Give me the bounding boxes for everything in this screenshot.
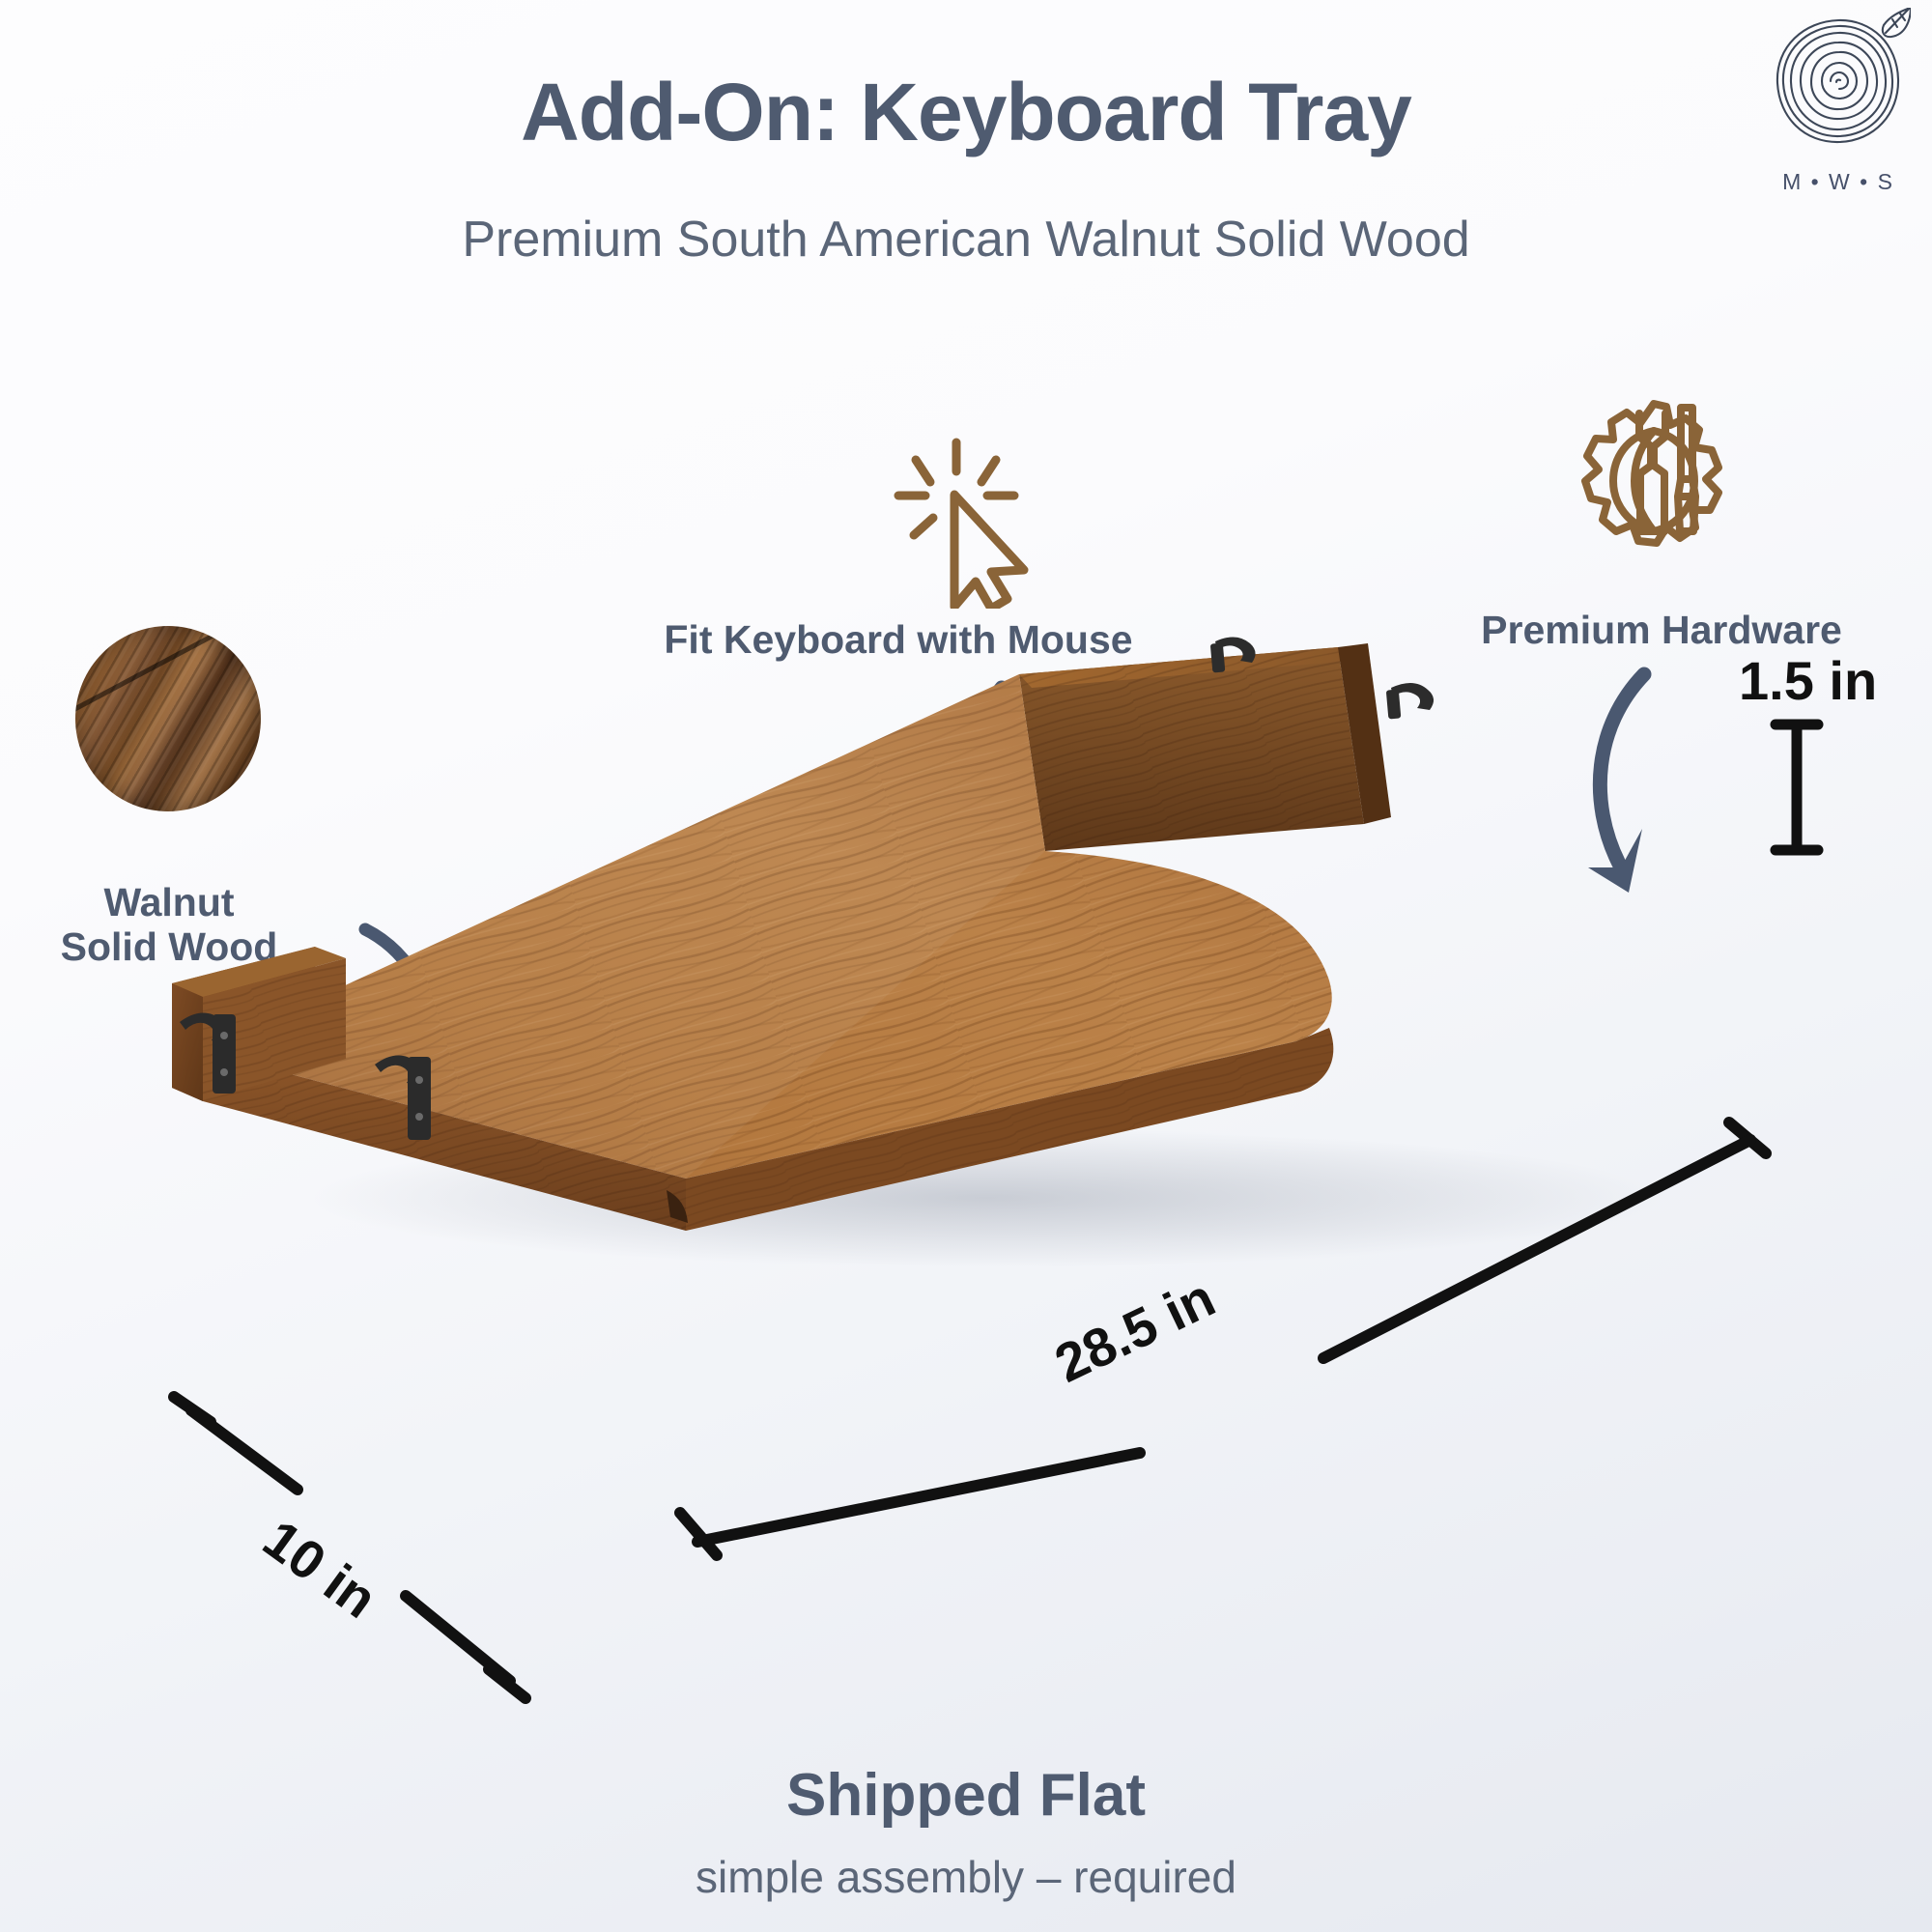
footer-subtitle: simple assembly – required bbox=[0, 1855, 1932, 1899]
infographic-canvas: Add-On: Keyboard Tray Premium South Amer… bbox=[0, 0, 1932, 1932]
gear-tools-icon bbox=[1557, 386, 1750, 580]
page-subtitle: Premium South American Walnut Solid Wood bbox=[0, 214, 1932, 265]
dimension-height-line bbox=[1758, 715, 1835, 860]
tree-ring-logo bbox=[1766, 8, 1911, 172]
logo-wordmark: M • W • S bbox=[1766, 169, 1911, 195]
footer-title: Shipped Flat bbox=[0, 1766, 1932, 1826]
bracket-hook-far-right bbox=[1386, 683, 1434, 720]
tray-back-rail bbox=[1019, 643, 1391, 851]
page-title: Add-On: Keyboard Tray bbox=[0, 71, 1932, 153]
dimension-length-line bbox=[667, 1101, 1797, 1584]
brand-logo: M • W • S bbox=[1766, 8, 1911, 201]
click-cursor-icon bbox=[869, 435, 1043, 609]
dimension-height-label: 1.5 in bbox=[1739, 649, 1877, 712]
leaf-icon bbox=[1883, 8, 1911, 37]
